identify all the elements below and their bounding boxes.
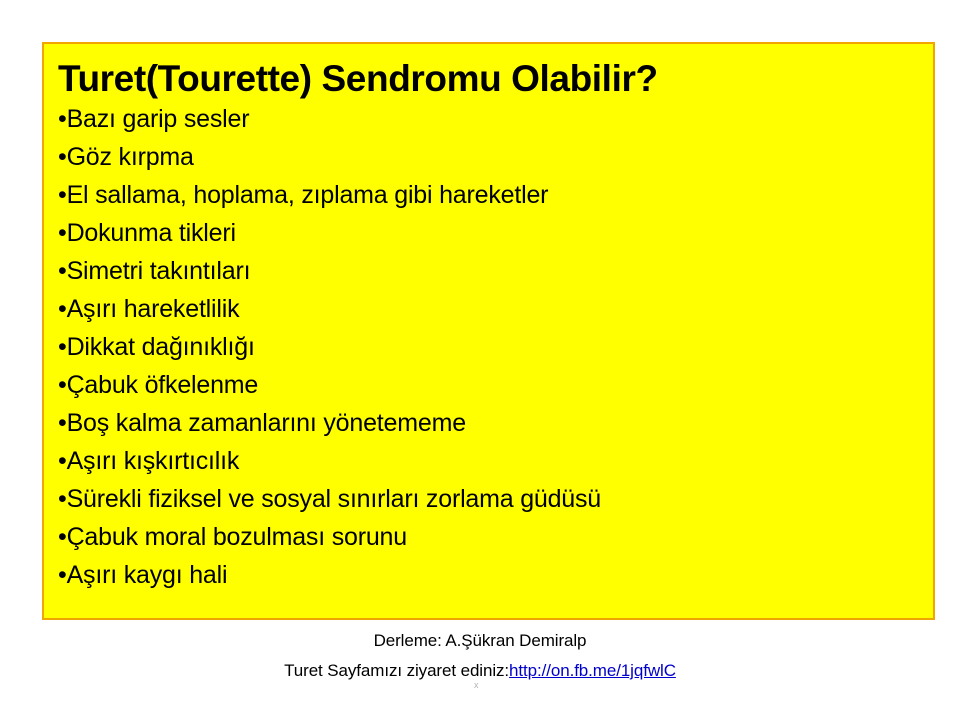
bullet-point-icon: •	[58, 219, 67, 247]
bullet-point-icon: •	[58, 561, 67, 589]
list-item-label: Dokunma tikleri	[67, 219, 236, 247]
list-item-label: Aşırı kaygı hali	[67, 561, 228, 589]
list-item: •Boş kalma zamanlarını yönetememe	[58, 404, 933, 442]
bullet-point-icon: •	[58, 143, 67, 171]
list-item-label: Simetri takıntıları	[67, 257, 251, 285]
stray-character-artifact: x	[474, 681, 479, 690]
list-item-label: Aşırı kışkırtıcılık	[67, 447, 240, 475]
list-item-label: Dikkat dağınıklığı	[67, 333, 255, 361]
list-item: •Aşırı hareketlilik	[58, 290, 933, 328]
slide-footer: Derleme: A.Şükran Demiralp Turet Sayfamı…	[0, 626, 960, 686]
list-item-label: Göz kırpma	[67, 143, 194, 171]
list-item: •Aşırı kışkırtıcılık	[58, 442, 933, 480]
bullet-point-icon: •	[58, 257, 67, 285]
list-item: •Sürekli fiziksel ve sosyal sınırları zo…	[58, 480, 933, 518]
bullet-point-icon: •	[58, 485, 67, 513]
list-item: •Çabuk moral bozulması sorunu	[58, 518, 933, 556]
content-panel: Turet(Tourette) Sendromu Olabilir? •Bazı…	[42, 42, 935, 620]
visit-line: Turet Sayfamızı ziyaret ediniz:http://on…	[0, 656, 960, 686]
list-item: •Çabuk öfkelenme	[58, 366, 933, 404]
slide-canvas: Turet(Tourette) Sendromu Olabilir? •Bazı…	[0, 0, 960, 720]
bullet-point-icon: •	[58, 105, 67, 133]
symptom-bullet-list: •Bazı garip sesler •Göz kırpma •El salla…	[44, 98, 933, 594]
list-item-label: Çabuk öfkelenme	[67, 371, 259, 399]
list-item-label: El sallama, hoplama, zıplama gibi hareke…	[67, 181, 549, 209]
list-item: •Aşırı kaygı hali	[58, 556, 933, 594]
list-item: •Göz kırpma	[58, 138, 933, 176]
list-item: •Dikkat dağınıklığı	[58, 328, 933, 366]
facebook-page-link[interactable]: http://on.fb.me/1jqfwlC	[509, 661, 676, 680]
visit-prefix-label: Turet Sayfamızı ziyaret ediniz:	[284, 661, 509, 680]
list-item: •Dokunma tikleri	[58, 214, 933, 252]
list-item-label: Bazı garip sesler	[67, 105, 250, 133]
bullet-point-icon: •	[58, 295, 67, 323]
bullet-point-icon: •	[58, 523, 67, 551]
author-credit: Derleme: A.Şükran Demiralp	[0, 626, 960, 656]
bullet-point-icon: •	[58, 409, 67, 437]
list-item-label: Çabuk moral bozulması sorunu	[67, 523, 407, 551]
bullet-point-icon: •	[58, 447, 67, 475]
list-item-label: Boş kalma zamanlarını yönetememe	[67, 409, 466, 437]
list-item-label: Sürekli fiziksel ve sosyal sınırları zor…	[67, 485, 601, 513]
list-item: •El sallama, hoplama, zıplama gibi harek…	[58, 176, 933, 214]
list-item: •Simetri takıntıları	[58, 252, 933, 290]
list-item-label: Aşırı hareketlilik	[67, 295, 240, 323]
list-item: •Bazı garip sesler	[58, 100, 933, 138]
page-title: Turet(Tourette) Sendromu Olabilir?	[44, 44, 933, 98]
bullet-point-icon: •	[58, 181, 67, 209]
bullet-point-icon: •	[58, 333, 67, 361]
bullet-point-icon: •	[58, 371, 67, 399]
